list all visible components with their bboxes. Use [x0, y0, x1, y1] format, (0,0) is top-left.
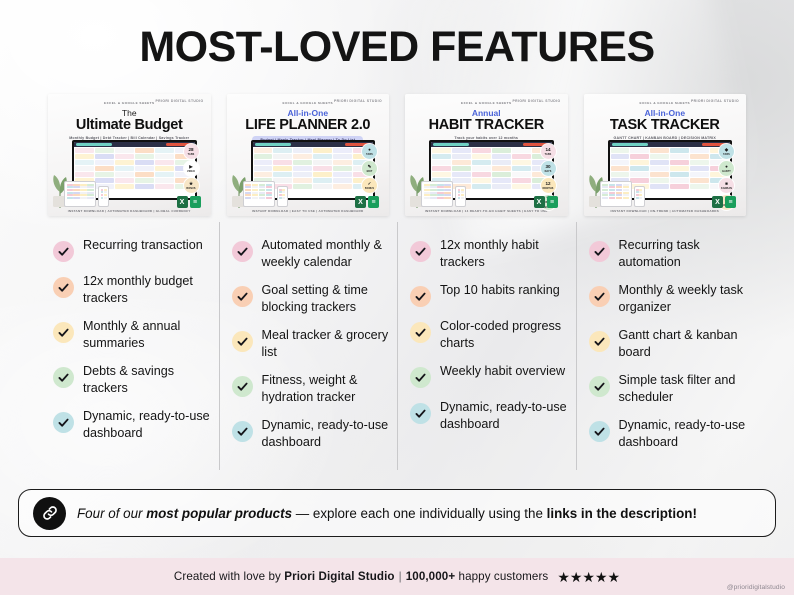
link-icon [33, 497, 66, 530]
banner-text-part2: — explore each one individually using th… [292, 506, 547, 521]
footer-separator: | [399, 570, 402, 583]
footer-prefix: Created with love by [174, 570, 284, 583]
card-badge-label: VIDEO [187, 169, 195, 174]
feature-item: 12x monthly habit trackers [410, 236, 568, 271]
feature-item: Automated monthly & weekly calendar [232, 236, 390, 271]
footer-bar: Created with love by Priori Digital Stud… [0, 558, 794, 595]
feature-item: Simple task filter and scheduler [589, 371, 747, 406]
card-badge-label: MONTHS [543, 186, 554, 191]
check-icon [410, 403, 431, 424]
feature-label: Meal tracker & grocery list [262, 326, 390, 361]
google-sheets-icon: ≡ [547, 196, 558, 208]
card-brand-mark: PRIORI DIGITAL STUDIO [512, 99, 560, 103]
feature-list: 12x monthly habit trackersTop 10 habits … [405, 236, 568, 433]
footer-suffix: happy customers [455, 570, 548, 583]
feature-item: Top 10 habits ranking [410, 281, 568, 307]
feature-item: Dynamic, ready-to-use dashboard [232, 416, 390, 451]
card-content: EXCEL & GOOGLE SHEETSPRIORI DIGITAL STUD… [405, 94, 568, 216]
footer-credit: Created with love by Priori Digital Stud… [174, 570, 548, 583]
card-badge-label: EDIT [367, 169, 373, 174]
feature-item: Monthly & weekly task organizer [589, 281, 747, 316]
feature-label: Goal setting & time blocking trackers [262, 281, 390, 316]
feature-label: Recurring transaction [83, 236, 203, 254]
check-icon [53, 277, 74, 298]
card-badge-group: 28TABS▶VIDEO★BONUS [184, 144, 199, 193]
feature-item: Dynamic, ready-to-use dashboard [53, 407, 211, 442]
card-badge: ✓BONUS [362, 178, 377, 193]
feature-list: Recurring transaction12x monthly budget … [48, 236, 211, 442]
feature-item: Meal tracker & grocery list [232, 326, 390, 361]
card-brand-mark: PRIORI DIGITAL STUDIO [691, 99, 739, 103]
banner-text-link[interactable]: links in the description! [547, 506, 697, 521]
card-badge-label: KANBAN [721, 186, 732, 191]
google-sheets-icon: ≡ [190, 196, 201, 208]
device-mockups [243, 181, 288, 207]
page-title: MOST-LOVED FEATURES [0, 22, 794, 72]
card-brand-mark: PRIORI DIGITAL STUDIO [334, 99, 382, 103]
feature-label: Dynamic, ready-to-use dashboard [262, 416, 390, 451]
card-badge: 14TABS [541, 144, 556, 159]
spreadsheet-logos: X≡ [177, 196, 201, 208]
feature-label: Weekly habit overview [440, 362, 565, 380]
check-icon [410, 286, 431, 307]
card-badge: 12MONTHS [541, 178, 556, 193]
card-brand-mark: PRIORI DIGITAL STUDIO [155, 99, 203, 103]
card-badge: ◆TABS [719, 144, 734, 159]
feature-item: Dynamic, ready-to-use dashboard [410, 398, 568, 433]
card-content: EXCEL & GOOGLE SHEETSPRIORI DIGITAL STUD… [48, 94, 211, 216]
excel-icon: X [177, 196, 188, 208]
feature-item: Color-coded progress charts [410, 317, 568, 352]
feature-label: Recurring task automation [619, 236, 747, 271]
check-icon [589, 241, 610, 262]
card-footer-strip: INSTANT DOWNLOAD | 14 READY-TO-GO HABIT … [411, 209, 562, 213]
card-badge-label: TABS [723, 152, 730, 157]
product-column: EXCEL & GOOGLE SHEETSPRIORI DIGITAL STUD… [397, 94, 576, 476]
footer-studio-name: Priori Digital Studio [284, 570, 394, 583]
feature-item: 12x monthly budget trackers [53, 272, 211, 307]
check-icon [53, 322, 74, 343]
feature-item: Goal setting & time blocking trackers [232, 281, 390, 316]
feature-item: Monthly & annual summaries [53, 317, 211, 352]
card-title: Ultimate Budget [54, 117, 205, 133]
feature-label: 12x monthly habit trackers [440, 236, 568, 271]
feature-label: Dynamic, ready-to-use dashboard [83, 407, 211, 442]
feature-label: 12x monthly budget trackers [83, 272, 211, 307]
excel-icon: X [355, 196, 366, 208]
google-sheets-icon: ≡ [725, 196, 736, 208]
card-badge: ▶VIDEO [184, 161, 199, 176]
device-mockups [64, 181, 109, 207]
feature-item: Fitness, weight & hydration tracker [232, 371, 390, 406]
check-icon [410, 241, 431, 262]
card-content: EXCEL & GOOGLE SHEETSPRIORI DIGITAL STUD… [584, 94, 747, 216]
feature-label: Debts & savings trackers [83, 362, 211, 397]
feature-item: Recurring transaction [53, 236, 211, 262]
banner-text: Four of our most popular products — expl… [77, 506, 697, 521]
product-card-image[interactable]: EXCEL & GOOGLE SHEETSPRIORI DIGITAL STUD… [584, 94, 747, 216]
excel-icon: X [712, 196, 723, 208]
device-mockups [421, 181, 466, 207]
check-icon [232, 421, 253, 442]
excel-icon: X [534, 196, 545, 208]
feature-label: Dynamic, ready-to-use dashboard [440, 398, 568, 433]
feature-label: Monthly & annual summaries [83, 317, 211, 352]
device-mockups [600, 181, 645, 207]
card-badge-label: TABS [545, 152, 552, 157]
feature-item: Weekly habit overview [410, 362, 568, 388]
product-card-image[interactable]: EXCEL & GOOGLE SHEETSPRIORI DIGITAL STUD… [48, 94, 211, 216]
spreadsheet-logos: X≡ [355, 196, 379, 208]
spreadsheet-logos: X≡ [534, 196, 558, 208]
feature-item: Gantt chart & kanban board [589, 326, 747, 361]
product-card-image[interactable]: EXCEL & GOOGLE SHEETSPRIORI DIGITAL STUD… [227, 94, 390, 216]
product-card-image[interactable]: EXCEL & GOOGLE SHEETSPRIORI DIGITAL STUD… [405, 94, 568, 216]
product-column: EXCEL & GOOGLE SHEETSPRIORI DIGITAL STUD… [40, 94, 219, 476]
card-badge-label: TABS [366, 152, 373, 157]
check-icon [589, 286, 610, 307]
feature-label: Automated monthly & weekly calendar [262, 236, 390, 271]
card-title: LIFE PLANNER 2.0 [233, 117, 384, 133]
check-icon [232, 241, 253, 262]
banner-text-part1: Four of our [77, 506, 146, 521]
social-handle: @prioridigitalstudio [727, 584, 785, 591]
feature-label: Fitness, weight & hydration tracker [262, 371, 390, 406]
check-icon [410, 367, 431, 388]
feature-label: Top 10 habits ranking [440, 281, 560, 299]
feature-list: Automated monthly & weekly calendarGoal … [227, 236, 390, 451]
poster-canvas: MOST-LOVED FEATURES EXCEL & GOOGLE SHEET… [0, 0, 794, 595]
spreadsheet-logos: X≡ [712, 196, 736, 208]
card-badge: ★BONUS [184, 178, 199, 193]
card-badge: ✎EDIT [362, 161, 377, 176]
card-badge: ●TABS [362, 144, 377, 159]
google-sheets-icon: ≡ [368, 196, 379, 208]
check-icon [53, 241, 74, 262]
product-column: EXCEL & GOOGLE SHEETSPRIORI DIGITAL STUD… [576, 94, 755, 476]
feature-label: Gantt chart & kanban board [619, 326, 747, 361]
card-badge: 30DAYS [541, 161, 556, 176]
card-footer-strip: INSTANT DOWNLOAD | EASY TO USE | AUTOMAT… [233, 209, 384, 213]
card-badge-group: ●TABS✎EDIT✓BONUS [362, 144, 377, 193]
feature-label: Color-coded progress charts [440, 317, 568, 352]
card-badge: ●GANTT [719, 161, 734, 176]
feature-label: Dynamic, ready-to-use dashboard [619, 416, 747, 451]
card-badge-label: GANTT [722, 169, 731, 174]
check-icon [589, 376, 610, 397]
feature-item: Debts & savings trackers [53, 362, 211, 397]
check-icon [232, 376, 253, 397]
check-icon [589, 331, 610, 352]
card-badge-label: BONUS [365, 186, 374, 191]
footer-customer-count: 100,000+ [406, 570, 455, 583]
check-icon [589, 421, 610, 442]
card-title: TASK TRACKER [590, 117, 741, 133]
banner-text-emphasis: most popular products [146, 506, 292, 521]
product-columns: EXCEL & GOOGLE SHEETSPRIORI DIGITAL STUD… [40, 94, 754, 476]
card-badge-label: TABS [188, 152, 195, 157]
card-badge: 28TABS [184, 144, 199, 159]
feature-label: Simple task filter and scheduler [619, 371, 747, 406]
feature-label: Monthly & weekly task organizer [619, 281, 747, 316]
card-badge: ■KANBAN [719, 178, 734, 193]
card-badge-label: DAYS [545, 169, 552, 174]
feature-item: Recurring task automation [589, 236, 747, 271]
check-icon [53, 367, 74, 388]
feature-item: Dynamic, ready-to-use dashboard [589, 416, 747, 451]
check-icon [232, 286, 253, 307]
check-icon [53, 412, 74, 433]
callout-banner: Four of our most popular products — expl… [18, 489, 776, 537]
card-footer-strip: INSTANT DOWNLOAD | ON-TREND | AUTOMATED … [590, 209, 741, 213]
check-icon [410, 322, 431, 343]
star-rating: ★★★★★ [557, 570, 620, 584]
card-badge-label: BONUS [186, 186, 195, 191]
card-content: EXCEL & GOOGLE SHEETSPRIORI DIGITAL STUD… [227, 94, 390, 216]
card-title: HABIT TRACKER [411, 117, 562, 133]
card-footer-strip: INSTANT DOWNLOAD | AUTOMATED DASHBOARD |… [54, 209, 205, 213]
product-column: EXCEL & GOOGLE SHEETSPRIORI DIGITAL STUD… [219, 94, 398, 476]
check-icon [232, 331, 253, 352]
feature-list: Recurring task automationMonthly & weekl… [584, 236, 747, 451]
